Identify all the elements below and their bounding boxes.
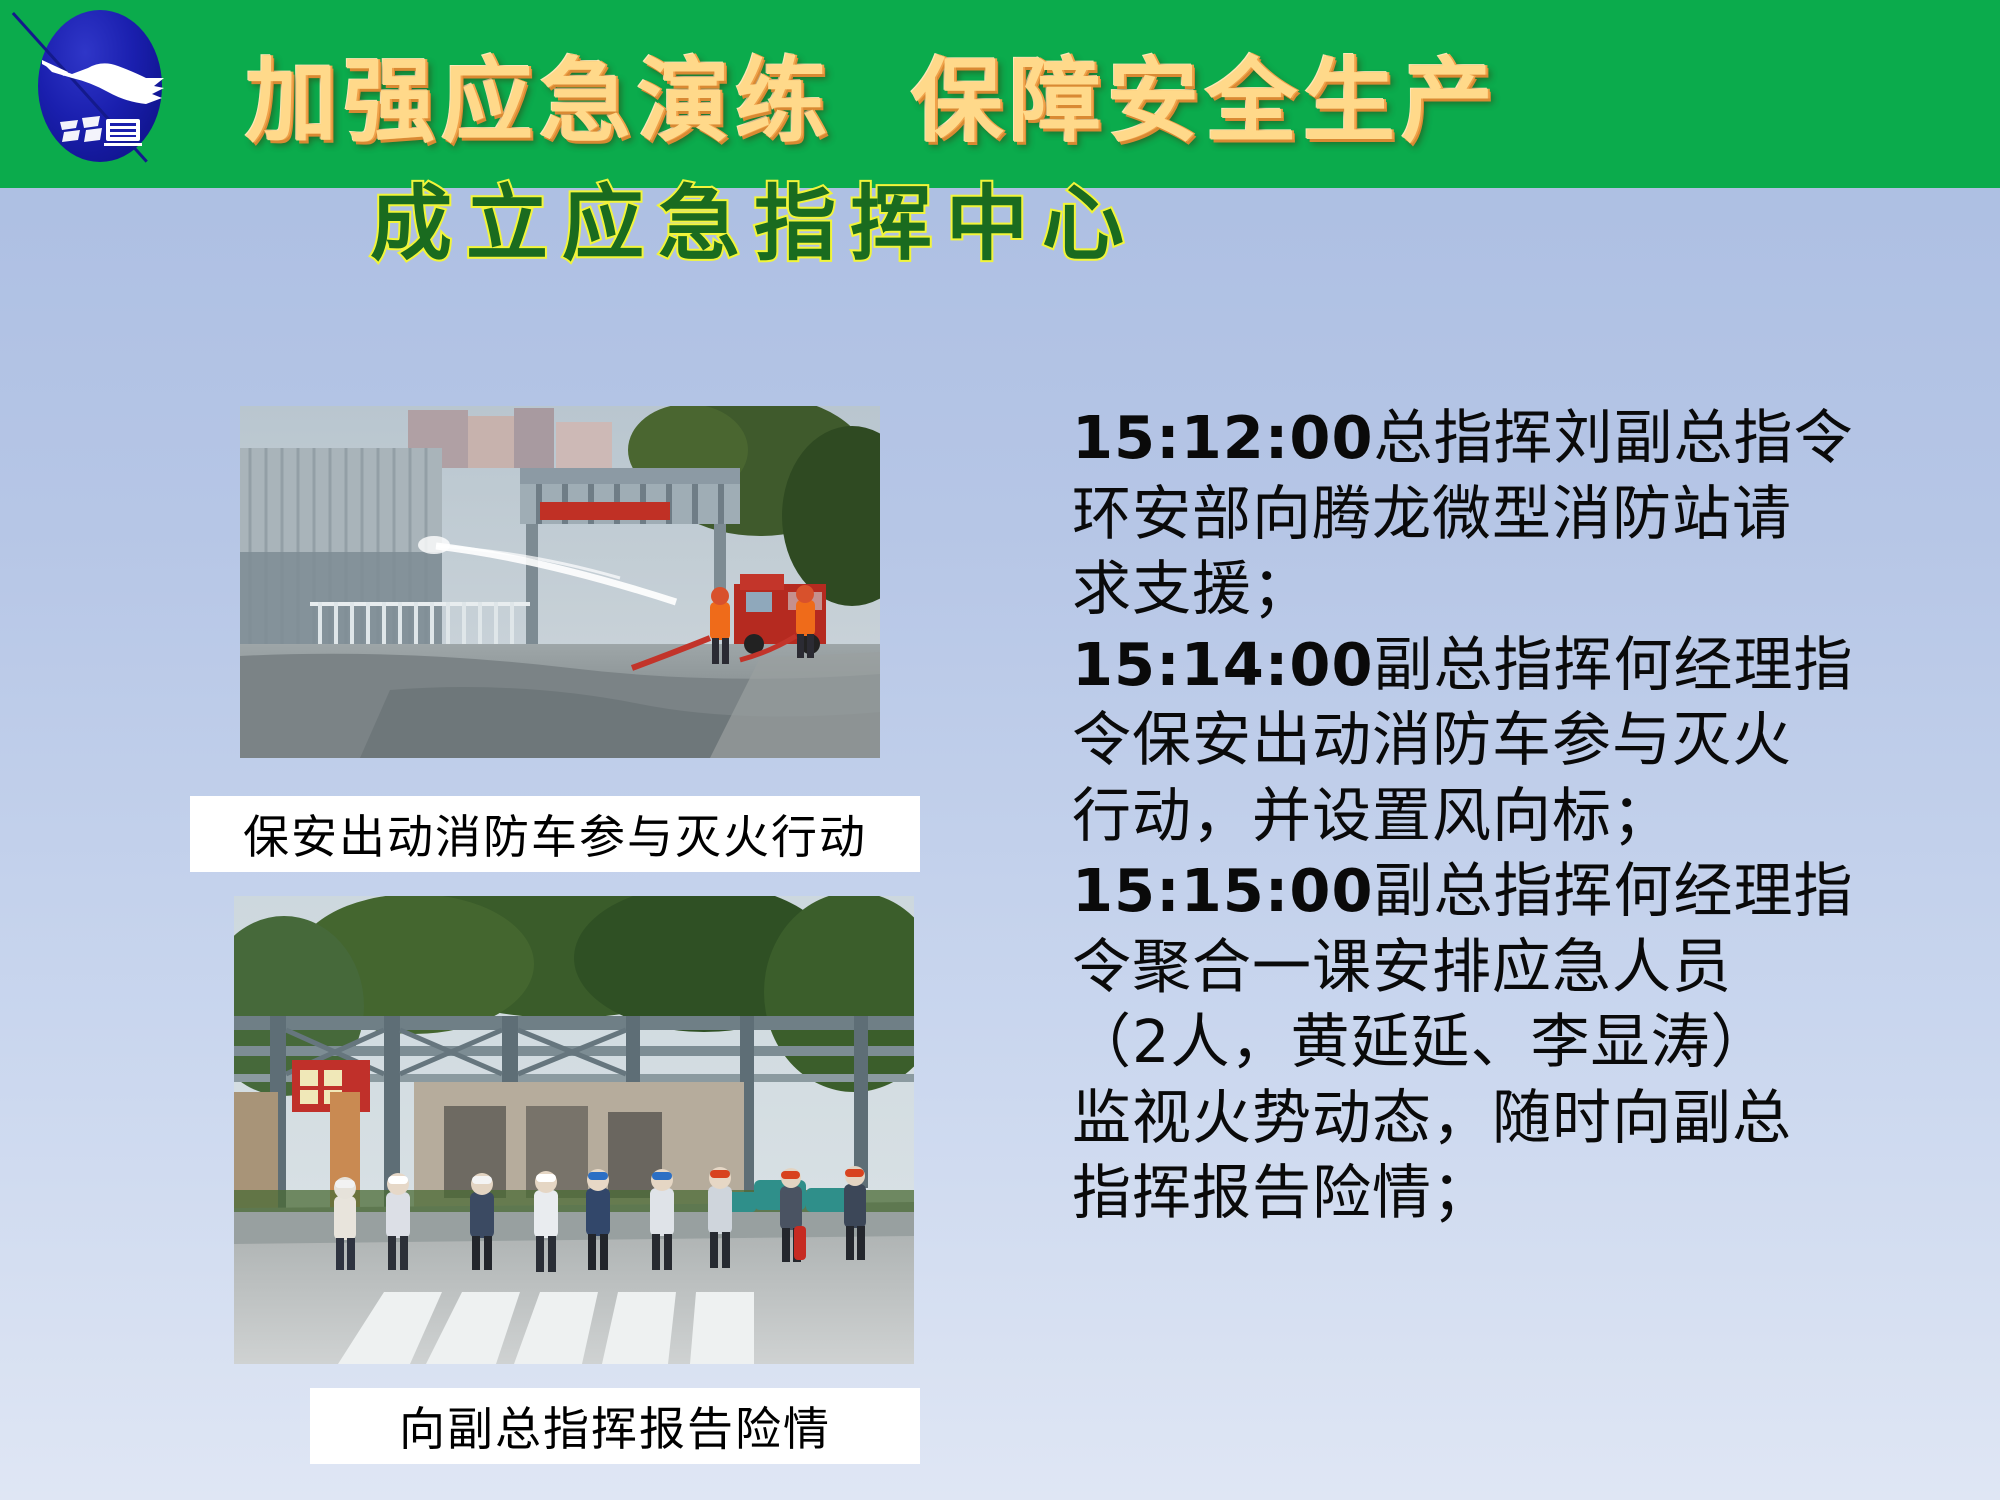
logo-bird-icon: [42, 44, 166, 114]
log-line: 求支援；: [1072, 551, 1984, 627]
log-line: 令保安出动消防车参与灭火: [1072, 702, 1984, 778]
photo1-caption: 保安出动消防车参与灭火行动: [190, 796, 920, 872]
slide-subtitle: 成立应急指挥中心: [370, 180, 1470, 270]
log-text: （2人，黄延延、李显涛）: [1072, 1007, 1771, 1076]
assembly-point-photo: [234, 896, 914, 1364]
photo2-caption: 向副总指挥报告险情: [310, 1388, 920, 1464]
banner-title-part1: 加强应急演练: [245, 27, 833, 160]
log-text: 求支援；: [1072, 554, 1312, 623]
log-timestamp: 15:14:00: [1072, 630, 1374, 699]
log-text: 令保安出动消防车参与灭火: [1072, 705, 1792, 774]
slide-canvas: 加强应急演练 保障安全生产 成立应急指挥中心: [0, 0, 2000, 1500]
log-line: 行动，并设置风向标；: [1072, 778, 1984, 854]
log-text: 总指挥刘副总指令: [1374, 403, 1854, 472]
log-line: 15:14:00副总指挥何经理指: [1072, 627, 1984, 703]
banner-title: 加强应急演练 保障安全生产: [245, 28, 1985, 158]
company-logo: [20, 6, 180, 164]
log-line: 令聚合一课安排应急人员: [1072, 929, 1984, 1005]
fire-hose-drill-photo: [240, 406, 880, 758]
log-timestamp: 15:12:00: [1072, 403, 1374, 472]
banner-title-part2: 保障安全生产: [911, 27, 1499, 160]
logo-wordmark-icon: [56, 114, 142, 148]
log-line: 15:15:00副总指挥何经理指: [1072, 853, 1984, 929]
log-line: （2人，黄延延、李显涛）: [1072, 1004, 1984, 1080]
log-text: 副总指挥何经理指: [1374, 856, 1854, 925]
log-text: 环安部向腾龙微型消防站请: [1072, 479, 1792, 548]
log-text: 令聚合一课安排应急人员: [1072, 932, 1732, 1001]
event-log-text: 15:12:00总指挥刘副总指令 环安部向腾龙微型消防站请 求支援； 15:14…: [1072, 400, 1984, 1231]
log-text: 副总指挥何经理指: [1374, 630, 1854, 699]
log-line: 环安部向腾龙微型消防站请: [1072, 476, 1984, 552]
log-line: 监视火势动态，随时向副总: [1072, 1080, 1984, 1156]
log-timestamp: 15:15:00: [1072, 856, 1374, 925]
log-line: 15:12:00总指挥刘副总指令: [1072, 400, 1984, 476]
log-text: 监视火势动态，随时向副总: [1072, 1083, 1792, 1152]
header-banner: 加强应急演练 保障安全生产: [0, 0, 2000, 188]
log-line: 指挥报告险情；: [1072, 1155, 1984, 1231]
log-text: 行动，并设置风向标；: [1072, 781, 1672, 850]
log-text: 指挥报告险情；: [1072, 1158, 1492, 1227]
